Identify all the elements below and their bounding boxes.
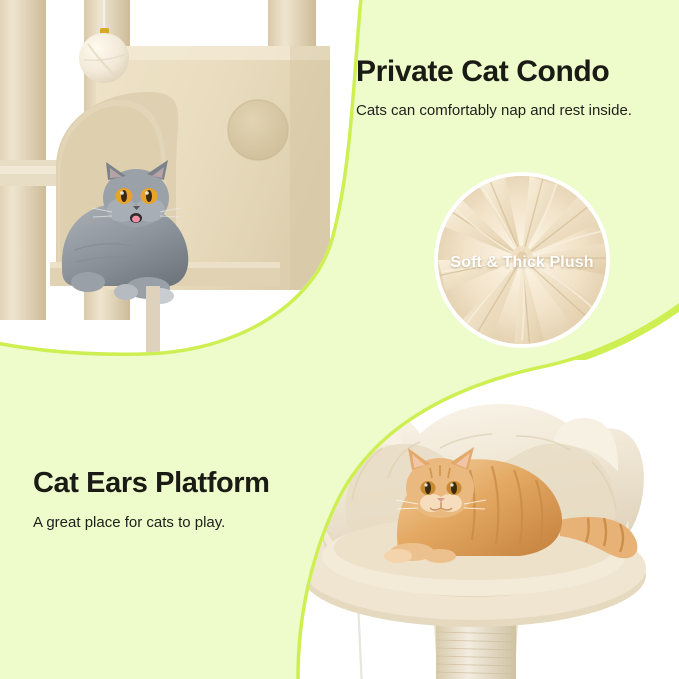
platform-subheading: A great place for cats to play. [33, 514, 333, 533]
plush-inset-label: Soft & Thick Plush [438, 254, 606, 272]
infographic-canvas: Soft & Thick Plush Private Cat Condo Cat… [0, 0, 679, 679]
plush-closeup-inset: Soft & Thick Plush [434, 172, 610, 348]
condo-subheading: Cats can comfortably nap and rest inside… [356, 102, 668, 121]
condo-heading: Private Cat Condo [356, 56, 668, 88]
condo-text-block: Private Cat Condo Cats can comfortably n… [356, 56, 668, 120]
platform-text-block: Cat Ears Platform A great place for cats… [33, 468, 333, 533]
platform-heading: Cat Ears Platform [33, 468, 333, 498]
